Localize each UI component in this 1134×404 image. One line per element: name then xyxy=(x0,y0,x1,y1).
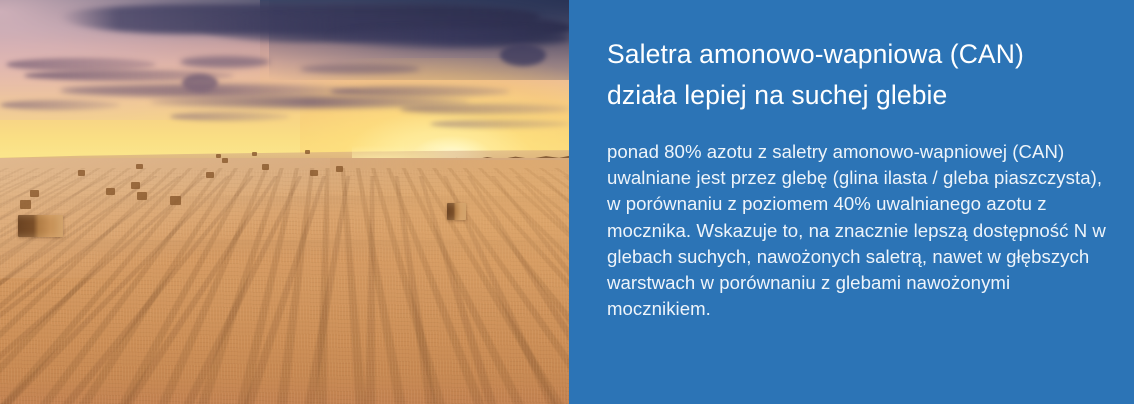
hay-bale xyxy=(262,164,269,170)
cloud-mid-2 xyxy=(300,64,420,74)
headline-line-2: działa lepiej na suchej glebie xyxy=(607,75,1106,116)
cloud-streak-7 xyxy=(400,104,569,114)
hay-bale xyxy=(106,188,115,195)
hay-bale xyxy=(305,150,310,154)
hay-bale xyxy=(310,170,318,176)
cloud-blob-right xyxy=(500,44,546,66)
hay-bale xyxy=(447,203,466,220)
text-panel: Saletra amonowo-wapniowa (CAN) działa le… xyxy=(569,0,1134,404)
hay-bale xyxy=(216,154,221,158)
hay-bale xyxy=(20,200,31,209)
hay-bale xyxy=(30,190,39,197)
hay-bale xyxy=(131,182,140,189)
cloud-streak-8 xyxy=(170,112,290,121)
field-highlight-right xyxy=(309,160,569,310)
cloud-streak-6 xyxy=(0,100,120,110)
page-title: Saletra amonowo-wapniowa (CAN) działa le… xyxy=(607,34,1106,116)
hay-bale xyxy=(336,166,343,172)
hay-bale xyxy=(170,196,181,205)
sunset-field-photo xyxy=(0,0,569,404)
hay-bale xyxy=(136,164,143,169)
hay-bale xyxy=(206,172,214,178)
body-text: ponad 80% azotu z saletry amonowo-wapnio… xyxy=(607,139,1106,322)
hay-bale xyxy=(18,215,63,237)
hay-bale xyxy=(222,158,228,163)
cloud-mid-1 xyxy=(180,56,270,68)
hay-bale xyxy=(252,152,257,156)
promo-banner: Saletra amonowo-wapniowa (CAN) działa le… xyxy=(0,0,1134,404)
hay-bale xyxy=(78,170,85,176)
hay-bale xyxy=(137,192,147,200)
headline-line-1: Saletra amonowo-wapniowa (CAN) xyxy=(607,39,1024,69)
cloud-streak-9 xyxy=(430,120,569,128)
